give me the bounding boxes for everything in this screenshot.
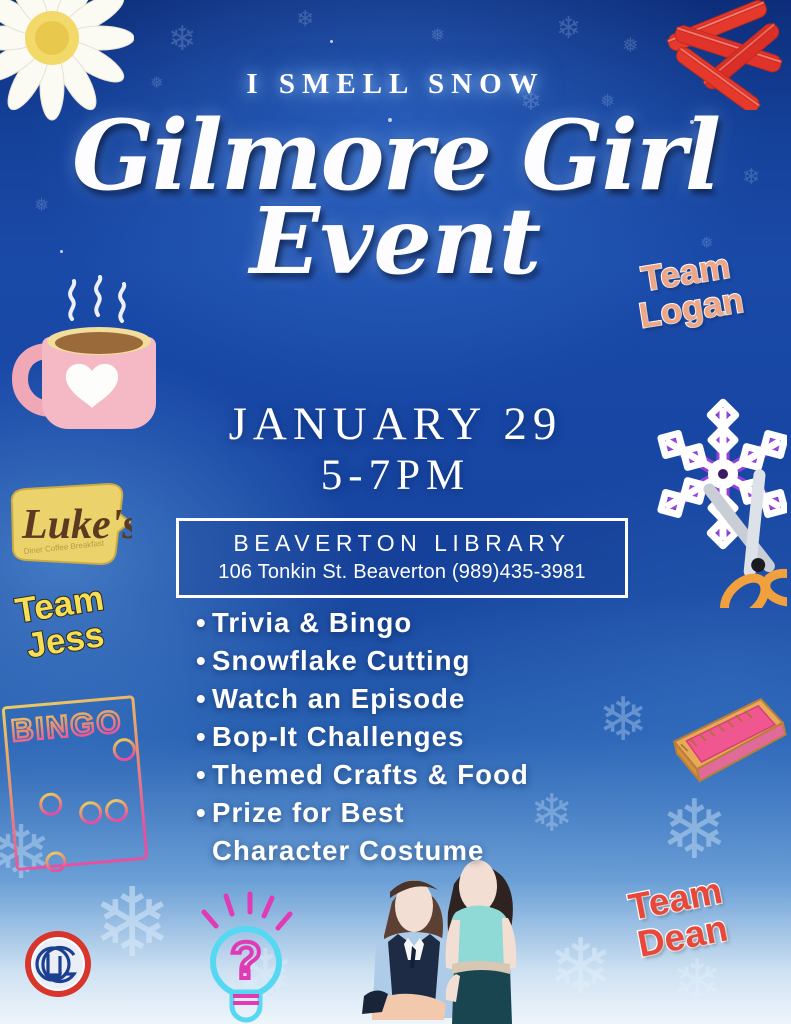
- girl-left: [362, 880, 456, 1020]
- event-flyer: ❄ ❄ ❅ ❄ ❅ ❄ ❅ ❅ ❅ ❄ ❅ ❄ ❄ ❄ ❄ ❄ ❄ ❄ ❄ ❄: [0, 0, 791, 1024]
- bullet-marker-icon: •: [196, 794, 212, 832]
- team-dean-sticker: Team Dean: [626, 872, 733, 964]
- team-jess-sticker: Team Jess: [13, 580, 112, 664]
- activity-label: Themed Crafts & Food: [212, 759, 529, 790]
- activity-label: Bop-It Challenges: [212, 721, 464, 752]
- activities-list: •Trivia & Bingo•Snowflake Cutting•Watch …: [196, 604, 666, 870]
- bullet-marker-icon: •: [196, 642, 212, 680]
- bullet-marker-icon: •: [196, 756, 212, 794]
- activity-label: Snowflake Cutting: [212, 645, 471, 676]
- snowflake-icon: ❄: [556, 14, 581, 44]
- activity-item: •Watch an Episode: [196, 680, 666, 718]
- venue-name: BEAVERTON LIBRARY: [185, 530, 619, 558]
- snowflake-icon: ❄: [660, 790, 729, 872]
- activity-label: Trivia & Bingo: [212, 607, 412, 638]
- activity-item: •Prize for Best: [196, 794, 666, 832]
- activity-item: •Bop-It Challenges: [196, 718, 666, 756]
- event-datetime: JANUARY 29 5-7PM: [0, 398, 791, 500]
- event-time: 5-7PM: [0, 451, 791, 500]
- library-logo: [22, 928, 94, 1000]
- activity-item: •Themed Crafts & Food: [196, 756, 666, 794]
- snowflake-icon: ❅: [430, 26, 445, 44]
- pop-tart-icon: [663, 694, 791, 802]
- bullet-marker-icon: •: [196, 718, 212, 756]
- tagline: I SMELL SNOW: [0, 68, 791, 101]
- snowflake-icon: ❄: [168, 22, 197, 56]
- activity-item: •Snowflake Cutting: [196, 642, 666, 680]
- bingo-card-label: BINGO: [10, 704, 124, 749]
- bullet-marker-icon: •: [196, 604, 212, 642]
- activity-item: •Trivia & Bingo: [196, 604, 666, 642]
- team-logan-sticker: Team Logan: [631, 247, 746, 334]
- activity-label: Watch an Episode: [212, 683, 465, 714]
- snowflake-icon: ❄: [92, 876, 172, 972]
- bingo-card-icon: BINGO: [0, 694, 152, 872]
- bullet-marker-icon: •: [196, 680, 212, 718]
- girl-right: [446, 860, 517, 1024]
- snowflake-icon: ❄: [672, 952, 722, 1012]
- venue-address: 106 Tonkin St. Beaverton (989)435-3981: [185, 561, 619, 584]
- snowflake-icon: ❅: [622, 36, 639, 56]
- svg-text:?: ?: [230, 932, 262, 990]
- venue-info-box: BEAVERTON LIBRARY 106 Tonkin St. Beavert…: [176, 518, 628, 598]
- activity-label-continuation: Character Costume: [196, 832, 666, 870]
- snowflake-icon: ❄: [548, 928, 613, 1006]
- activity-label: Prize for Best: [212, 797, 405, 828]
- event-date: JANUARY 29: [0, 398, 791, 451]
- snowflake-icon: ❄: [296, 8, 314, 30]
- trivia-lightbulb-icon: ?: [190, 884, 302, 1024]
